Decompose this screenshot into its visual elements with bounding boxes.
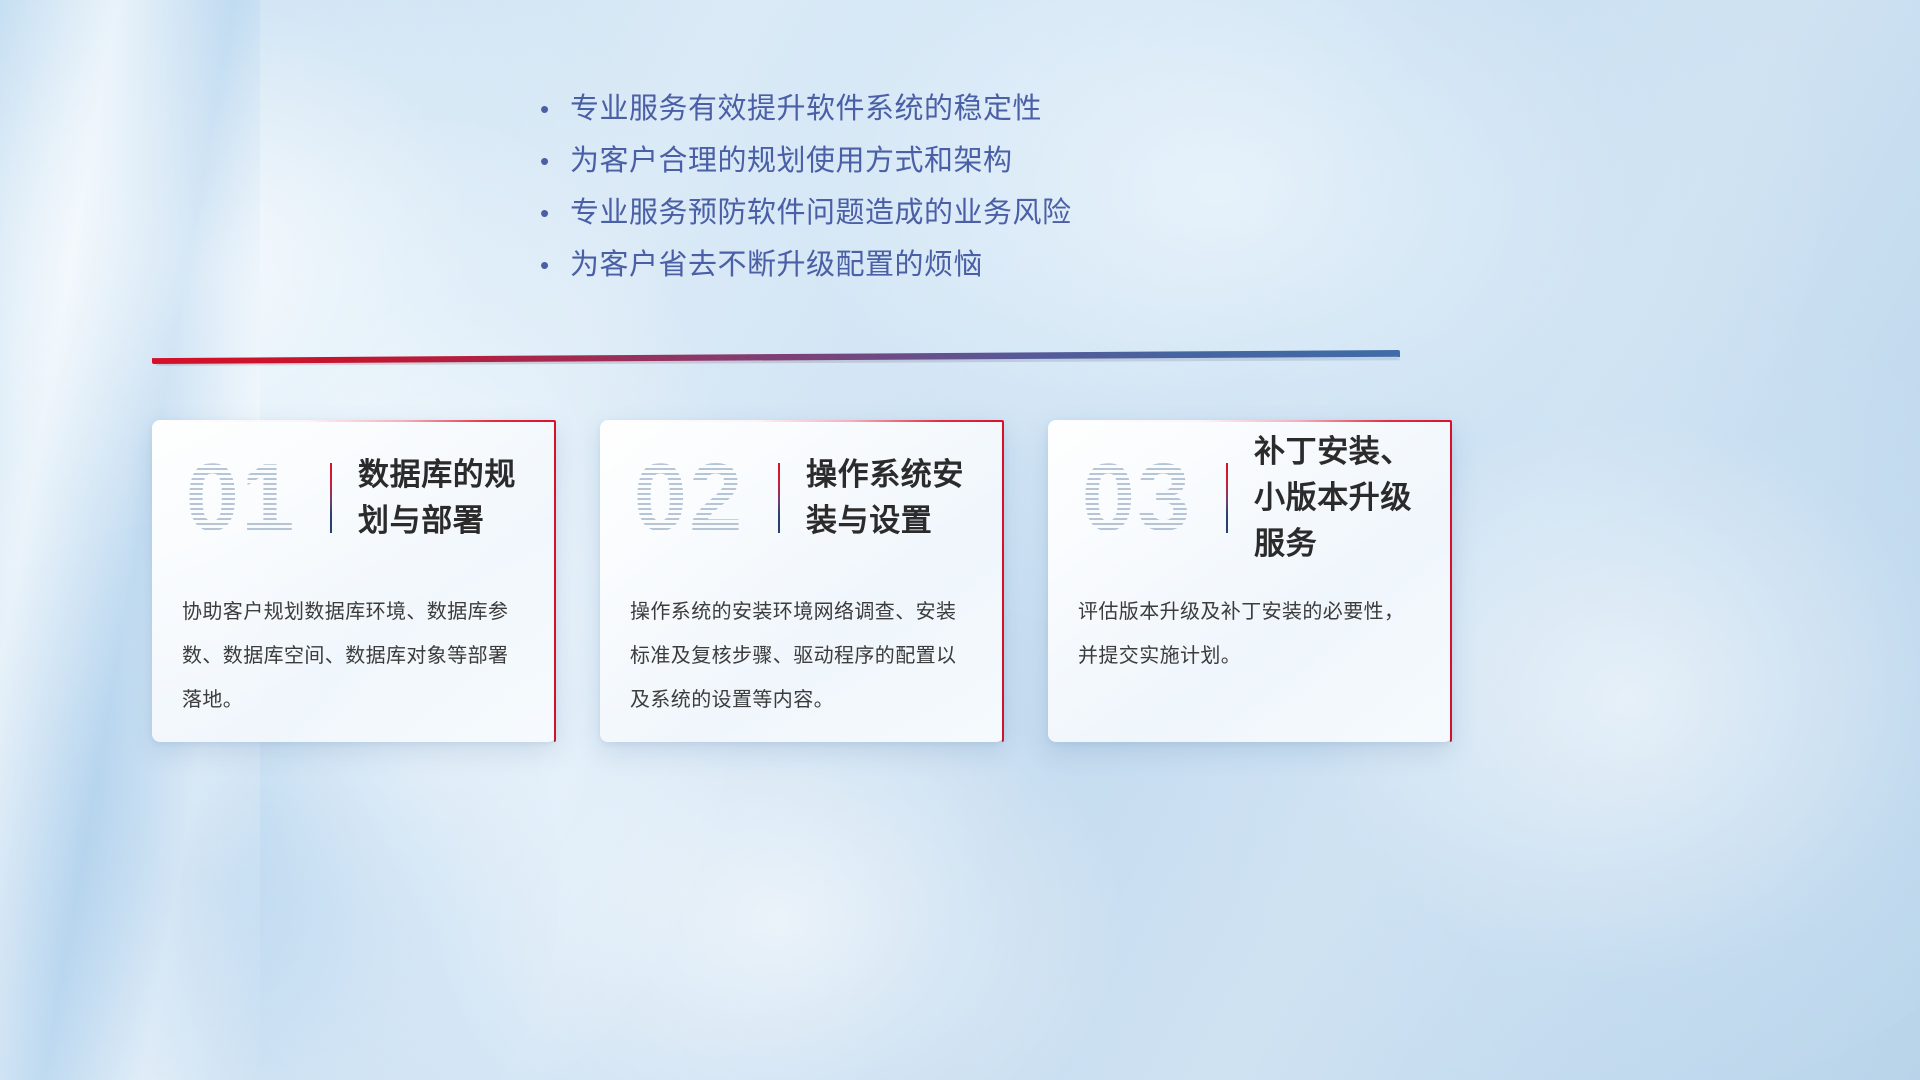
card-title: 数据库的规划与部署	[332, 452, 556, 544]
bullet-dot-icon: •	[540, 88, 570, 130]
card-header: 02 操作系统安装与设置	[600, 420, 1004, 568]
list-item: • 专业服务有效提升软件系统的稳定性	[540, 88, 1300, 140]
bullet-text: 专业服务预防软件问题造成的业务风险	[570, 192, 1072, 234]
card-description: 协助客户规划数据库环境、数据库参数、数据库空间、数据库对象等部署落地。	[152, 568, 556, 722]
card-title: 补丁安装、小版本升级服务	[1228, 429, 1452, 567]
card-number-watermark: 02	[600, 438, 778, 558]
list-item: • 为客户省去不断升级配置的烦恼	[540, 244, 1300, 296]
bullet-text: 为客户合理的规划使用方式和架构	[570, 140, 1013, 182]
service-card-row: 01 数据库的规划与部署 协助客户规划数据库环境、数据库参数、数据库空间、数据库…	[152, 420, 1452, 750]
card-header: 03 补丁安装、小版本升级服务	[1048, 420, 1452, 568]
list-item: • 专业服务预防软件问题造成的业务风险	[540, 192, 1300, 244]
list-item: • 为客户合理的规划使用方式和架构	[540, 140, 1300, 192]
card-description: 评估版本升级及补丁安装的必要性，并提交实施计划。	[1048, 568, 1452, 678]
card-title: 操作系统安装与设置	[780, 452, 1004, 544]
bullet-dot-icon: •	[540, 140, 570, 182]
section-divider	[152, 350, 1400, 364]
card-header: 01 数据库的规划与部署	[152, 420, 556, 568]
card-description: 操作系统的安装环境网络调查、安装标准及复核步骤、驱动程序的配置以及系统的设置等内…	[600, 568, 1004, 722]
service-card[interactable]: 01 数据库的规划与部署 协助客户规划数据库环境、数据库参数、数据库空间、数据库…	[152, 420, 556, 742]
bullet-dot-icon: •	[540, 244, 570, 286]
benefits-bullet-list: • 专业服务有效提升软件系统的稳定性 • 为客户合理的规划使用方式和架构 • 专…	[540, 88, 1300, 296]
card-number-watermark: 03	[1048, 438, 1226, 558]
service-card[interactable]: 02 操作系统安装与设置 操作系统的安装环境网络调查、安装标准及复核步骤、驱动程…	[600, 420, 1004, 742]
service-card[interactable]: 03 补丁安装、小版本升级服务 评估版本升级及补丁安装的必要性，并提交实施计划。	[1048, 420, 1452, 742]
card-number-watermark: 01	[152, 438, 330, 558]
bullet-text: 专业服务有效提升软件系统的稳定性	[570, 88, 1042, 130]
slide-canvas: • 专业服务有效提升软件系统的稳定性 • 为客户合理的规划使用方式和架构 • 专…	[0, 0, 1920, 1080]
bullet-dot-icon: •	[540, 192, 570, 234]
bullet-text: 为客户省去不断升级配置的烦恼	[570, 244, 983, 286]
